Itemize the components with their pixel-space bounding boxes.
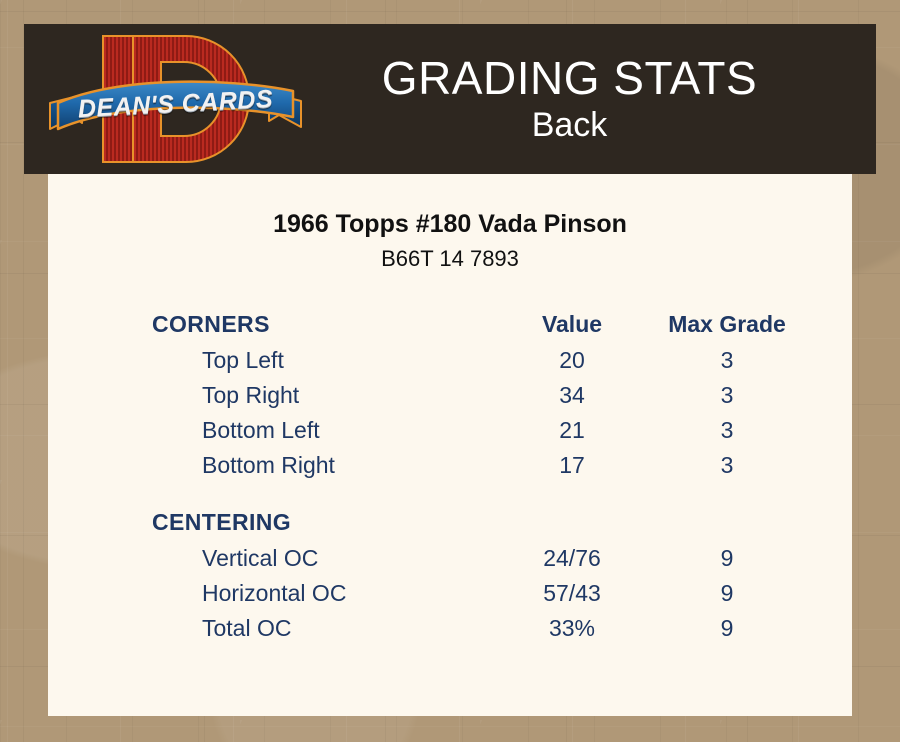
- table-row: Bottom Left 21 3: [152, 417, 852, 452]
- ribbon-banner-icon: DEAN'S CARDS: [48, 73, 303, 135]
- row-label-horizontal-oc: Horizontal OC: [152, 580, 502, 607]
- row-label-bottom-left: Bottom Left: [152, 417, 502, 444]
- table-row: Vertical OC 24/76 9: [152, 545, 852, 580]
- table-row: Total OC 33% 9: [152, 615, 852, 650]
- page-title: GRADING STATS: [303, 52, 836, 104]
- section-title-corners: CORNERS: [152, 311, 502, 338]
- row-grade-top-right: 3: [642, 382, 812, 409]
- row-value-total-oc: 33%: [502, 615, 642, 642]
- row-grade-top-left: 3: [642, 347, 812, 374]
- table-row: Top Left 20 3: [152, 347, 852, 382]
- page-subtitle: Back: [303, 104, 836, 146]
- row-value-bottom-right: 17: [502, 452, 642, 479]
- stats-section-corners: CORNERS Value Max Grade Top Left 20 3 To…: [152, 311, 852, 487]
- card-title: 1966 Topps #180 Vada Pinson: [48, 210, 852, 239]
- section-title-centering: CENTERING: [152, 509, 502, 536]
- row-value-horizontal-oc: 57/43: [502, 580, 642, 607]
- table-row: Top Right 34 3: [152, 382, 852, 417]
- row-grade-horizontal-oc: 9: [642, 580, 812, 607]
- row-label-top-left: Top Left: [152, 347, 502, 374]
- row-grade-total-oc: 9: [642, 615, 812, 642]
- row-grade-vertical-oc: 9: [642, 545, 812, 572]
- column-header-max-grade: Max Grade: [642, 311, 812, 338]
- row-value-top-left: 20: [502, 347, 642, 374]
- row-label-bottom-right: Bottom Right: [152, 452, 502, 479]
- centering-header-row: CENTERING: [152, 509, 852, 545]
- header-titles: GRADING STATS Back: [303, 52, 876, 146]
- stats-section-centering: CENTERING Vertical OC 24/76 9 Horizontal…: [152, 509, 852, 650]
- row-label-total-oc: Total OC: [152, 615, 502, 642]
- grading-stats-table: CORNERS Value Max Grade Top Left 20 3 To…: [152, 311, 852, 650]
- table-row: Bottom Right 17 3: [152, 452, 852, 487]
- row-label-top-right: Top Right: [152, 382, 502, 409]
- table-row: Horizontal OC 57/43 9: [152, 580, 852, 615]
- row-value-bottom-left: 21: [502, 417, 642, 444]
- row-grade-bottom-right: 3: [642, 452, 812, 479]
- row-value-vertical-oc: 24/76: [502, 545, 642, 572]
- card-serial-number: B66T 14 7893: [48, 246, 852, 272]
- ribbon-shape-icon: [48, 73, 303, 135]
- row-label-vertical-oc: Vertical OC: [152, 545, 502, 572]
- header-bar: DEAN'S CARDS GRADING STATS Back: [24, 24, 876, 174]
- column-header-value: Value: [502, 311, 642, 338]
- deans-cards-logo[interactable]: DEAN'S CARDS: [48, 29, 303, 169]
- row-value-top-right: 34: [502, 382, 642, 409]
- row-grade-bottom-left: 3: [642, 417, 812, 444]
- corners-header-row: CORNERS Value Max Grade: [152, 311, 852, 347]
